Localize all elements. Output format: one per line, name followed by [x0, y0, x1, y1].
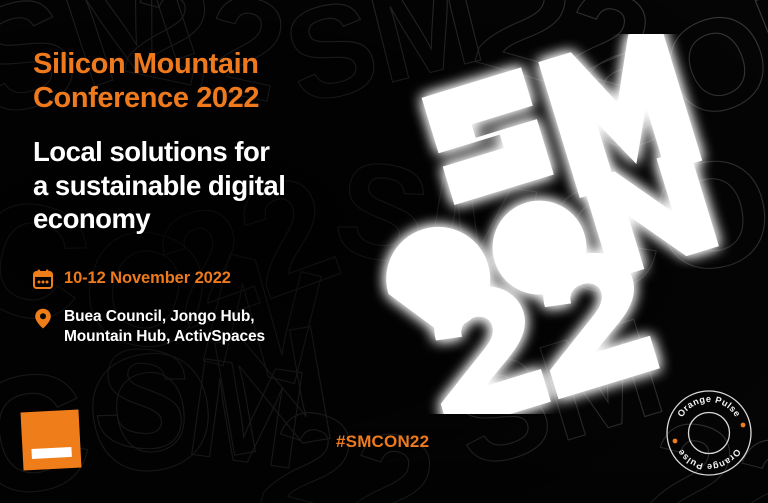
- event-date: 10-12 November 2022: [64, 268, 231, 289]
- orange-logo-bar: [31, 447, 71, 459]
- orange-pulse-badge: Orange Pulse Orange Pulse: [663, 387, 755, 479]
- pulse-badge-dot-left: [673, 439, 678, 444]
- event-hashtag: #SMCON22: [336, 432, 429, 452]
- page-title: Silicon Mountain Conference 2022: [33, 48, 363, 116]
- location-pin-icon: [33, 308, 53, 329]
- orange-logo: [21, 410, 82, 471]
- page-subtitle: Local solutions for a sustainable digita…: [33, 135, 383, 236]
- pulse-badge-dot-right: [741, 423, 746, 428]
- calendar-icon: [33, 269, 53, 290]
- event-details: 10-12 November 2022 Buea Council, Jongo …: [33, 268, 363, 364]
- event-venue: Buea Council, Jongo Hub, Mountain Hub, A…: [64, 307, 265, 347]
- conference-poster: SM 22 SM 22 CON 22 SM CON CON 22 SM 22 S…: [0, 0, 768, 503]
- event-date-row: 10-12 November 2022: [33, 268, 363, 290]
- event-venue-row: Buea Council, Jongo Hub, Mountain Hub, A…: [33, 307, 363, 347]
